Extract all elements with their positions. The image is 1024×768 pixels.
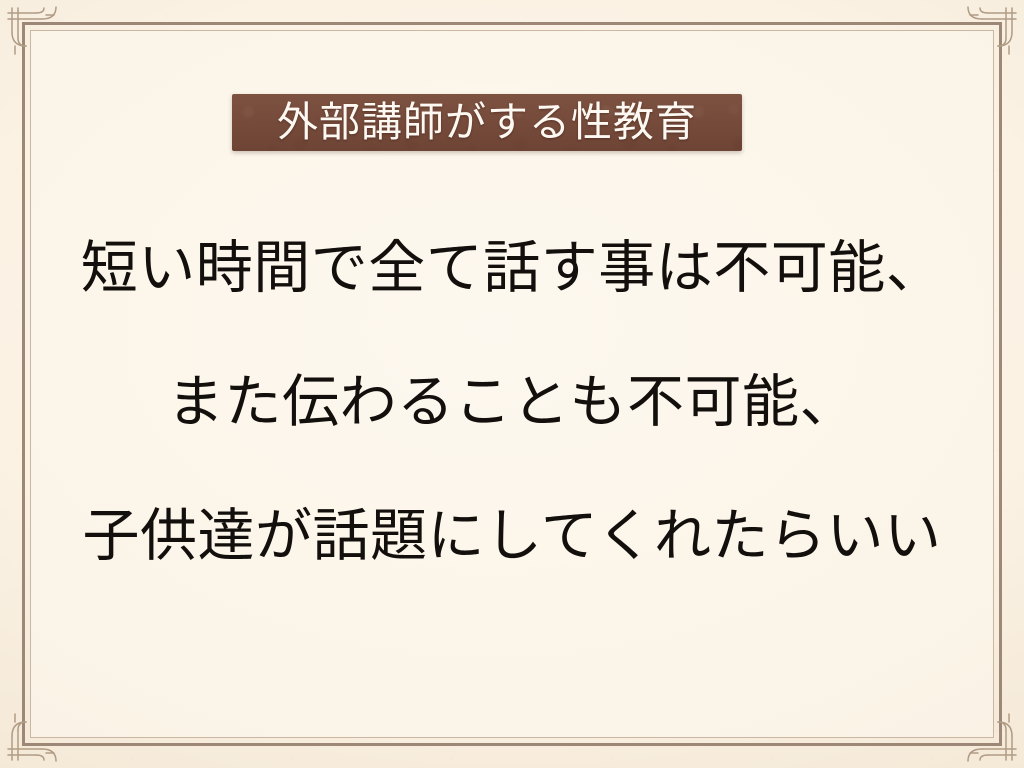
body-line: 短い時間で全て話す事は不可能、 — [40, 240, 984, 297]
presentation-slide: 外部講師がする性教育 短い時間で全て話す事は不可能、 また伝わることも不可能、 … — [0, 0, 1024, 768]
corner-ornament-top-left-icon — [2, 2, 60, 60]
body-line: 子供達が話題にしてくれたらいい — [40, 508, 984, 565]
corner-ornament-bottom-right-icon — [964, 708, 1022, 766]
title-banner: 外部講師がする性教育 — [232, 94, 742, 151]
corner-ornament-bottom-left-icon — [2, 708, 60, 766]
slide-body: 短い時間で全て話す事は不可能、 また伝わることも不可能、 子供達が話題にしてくれ… — [40, 240, 984, 565]
body-line: また伝わることも不可能、 — [40, 374, 984, 431]
corner-ornament-top-right-icon — [964, 2, 1022, 60]
slide-title: 外部講師がする性教育 — [277, 102, 697, 143]
